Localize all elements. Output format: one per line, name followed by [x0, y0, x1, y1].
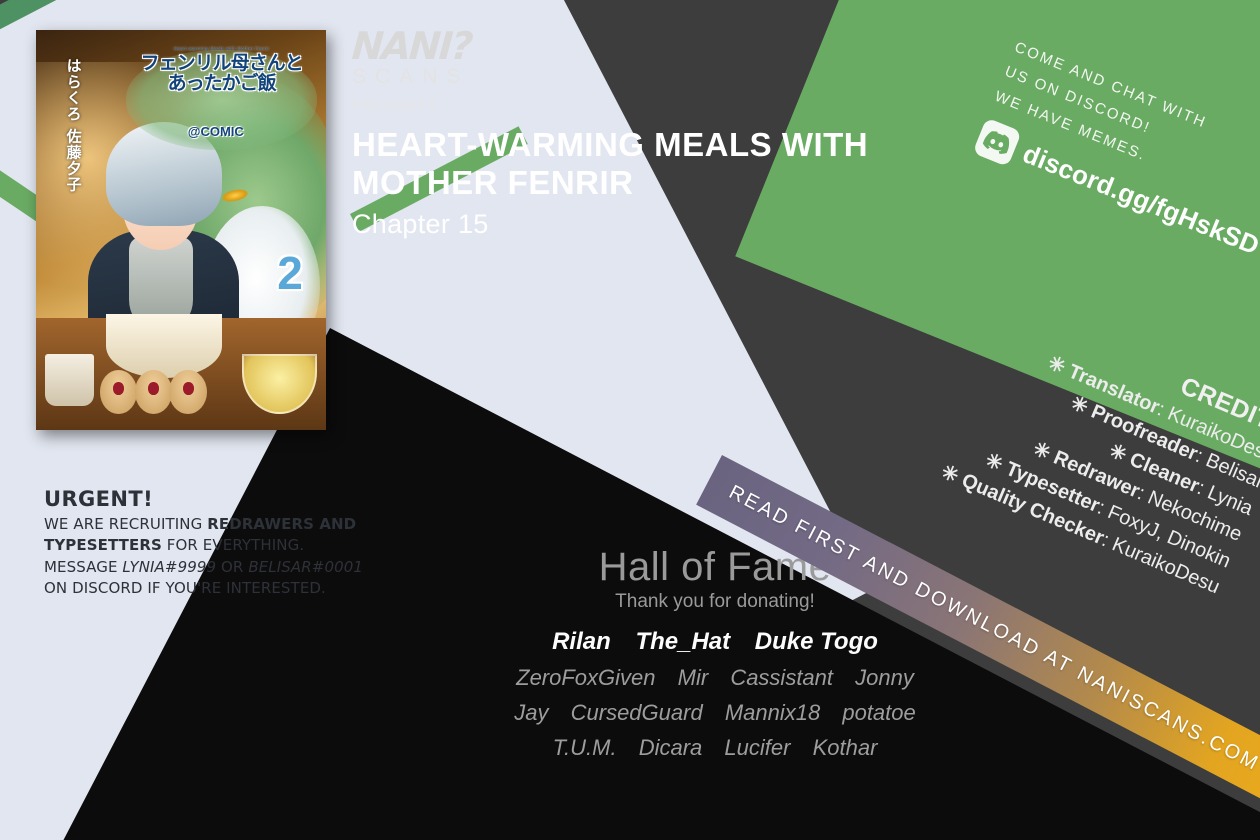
- credit-bullet: ✳: [1045, 352, 1069, 379]
- donor-name: Rilan: [552, 628, 611, 655]
- credit-bullet: ✳: [938, 461, 962, 488]
- donor-name: CursedGuard: [571, 700, 703, 725]
- credit-bullet: ✳: [982, 449, 1006, 476]
- recruiting-line3-mid: OR: [216, 558, 248, 576]
- recruiting-heading: URGENT!: [44, 487, 444, 511]
- credit-bullet: ✳: [1030, 438, 1054, 465]
- donor-name: Jonny: [855, 665, 914, 690]
- chapter-label: Chapter 15: [352, 209, 912, 240]
- presents-label: PRESENTS: [352, 97, 912, 113]
- cover-english-subtitle: Heart-warming Meals with Mother Fenrir: [152, 46, 291, 51]
- cover-bowl: [106, 314, 222, 378]
- donor-name: Mannix18: [725, 700, 820, 725]
- recruiting-handle-lynia: LYNIA#9999: [122, 558, 216, 576]
- donor-row: ZeroFoxGiven Mir Cassistant Jonny: [455, 665, 975, 691]
- donor-row: Jay CursedGuard Mannix18 potatoe: [455, 700, 975, 726]
- cover-pastry: [135, 370, 173, 414]
- donor-name: ZeroFoxGiven: [516, 665, 655, 690]
- manga-cover-image: Heart-warming Meals with Mother Fenrir フ…: [36, 30, 326, 430]
- donor-name: Duke Togo: [755, 628, 878, 655]
- recruiting-line4: ON DISCORD IF YOU'RE INTERESTED.: [44, 579, 326, 597]
- cover-boy-shirt: [129, 238, 193, 326]
- cover-jam: [183, 382, 194, 394]
- nani-scans-logo: NANI?: [351, 28, 473, 64]
- recruiting-handle-belisar: BELISAR#0001: [248, 558, 363, 576]
- donor-name: Jay: [514, 700, 548, 725]
- credits-page: Heart-warming Meals with Mother Fenrir フ…: [0, 0, 1260, 840]
- cover-pastry: [169, 370, 207, 414]
- recruiting-body: WE ARE RECRUITING REDRAWERS AND TYPESETT…: [44, 514, 444, 599]
- scans-wordmark: SCANS: [352, 65, 912, 89]
- recruiting-line3-pre: MESSAGE: [44, 558, 122, 576]
- donor-name: Cassistant: [730, 665, 833, 690]
- donor-name: Kothar: [813, 735, 878, 760]
- donor-row: T.U.M. Dicara Lucifer Kothar: [455, 735, 975, 761]
- donor-name: T.U.M.: [553, 735, 617, 760]
- cover-jam: [148, 382, 159, 394]
- credit-bullet: ✳: [1106, 440, 1130, 467]
- cover-volume-number: 2: [277, 246, 303, 300]
- top-donor-row: Rilan The_Hat Duke Togo: [455, 628, 975, 656]
- cover-at-comic-label: @COMIC: [152, 124, 280, 139]
- cover-authors: はらくろ 佐藤夕子: [62, 58, 85, 192]
- donor-name: The_Hat: [635, 628, 730, 655]
- donor-name: potatoe: [842, 700, 915, 725]
- recruiting-line1-pre: WE ARE RECRUITING: [44, 515, 207, 533]
- cover-jam: [113, 382, 124, 394]
- cover-japanese-title: フェンリル母さんと あったかご飯: [132, 54, 312, 94]
- donor-name: Dicara: [639, 735, 703, 760]
- cover-cup: [45, 354, 94, 406]
- credit-bullet: ✳: [1067, 392, 1091, 419]
- cover-artwork: Heart-warming Meals with Mother Fenrir フ…: [36, 30, 326, 430]
- series-title: HEART-WARMING MEALS WITH MOTHER FENRIR: [352, 126, 912, 203]
- donor-name: Lucifer: [724, 735, 790, 760]
- title-block: NANI? SCANS PRESENTS HEART-WARMING MEALS…: [352, 28, 912, 240]
- donor-name: Mir: [678, 665, 709, 690]
- recruiting-line1-bold: REDRAWERS AND: [207, 515, 356, 533]
- recruiting-line2-bold: TYPESETTERS: [44, 536, 162, 554]
- recruiting-line2-post: FOR EVERYTHING.: [162, 536, 304, 554]
- recruiting-block: URGENT! WE ARE RECRUITING REDRAWERS AND …: [44, 487, 444, 599]
